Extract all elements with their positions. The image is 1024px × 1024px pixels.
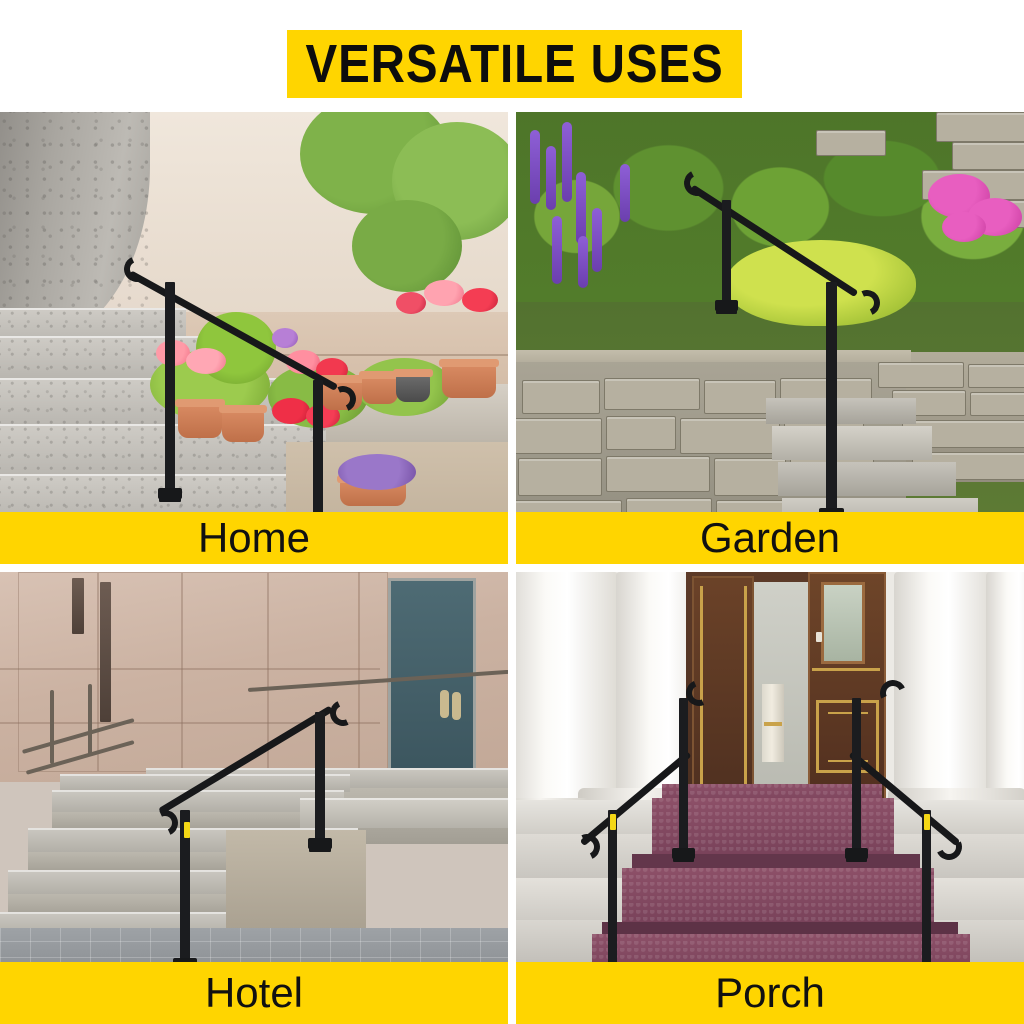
photo-porch: [516, 572, 1024, 962]
panel-garden: Garden: [516, 112, 1024, 564]
caption-home: Home: [0, 512, 508, 564]
gutter-vertical-bottom: [508, 572, 516, 1024]
photo-hotel: [0, 572, 508, 962]
caption-label: Garden: [700, 517, 840, 559]
brand-sticker-icon: [184, 822, 190, 838]
page-title: VERSATILE USES: [305, 37, 723, 91]
caption-garden: Garden: [516, 512, 1024, 564]
gutter-vertical-top: [508, 112, 516, 564]
brand-sticker-icon: [924, 814, 930, 830]
caption-hotel: Hotel: [0, 962, 508, 1024]
photo-home: [0, 112, 508, 512]
caption-label: Hotel: [205, 972, 303, 1014]
gutter-horizontal: [0, 564, 1024, 572]
product-feature-image: VERSATILE USES: [0, 0, 1024, 1024]
photo-garden: [516, 112, 1024, 512]
caption-label: Porch: [715, 972, 825, 1014]
panel-porch: Porch: [516, 572, 1024, 1024]
panel-grid: Home: [0, 112, 1024, 1024]
header: VERSATILE USES: [0, 0, 1024, 112]
panel-home: Home: [0, 112, 508, 564]
panel-hotel: Hotel: [0, 572, 508, 1024]
caption-porch: Porch: [516, 962, 1024, 1024]
brand-sticker-icon: [610, 814, 616, 830]
title-banner: VERSATILE USES: [287, 30, 742, 98]
caption-label: Home: [198, 517, 310, 559]
